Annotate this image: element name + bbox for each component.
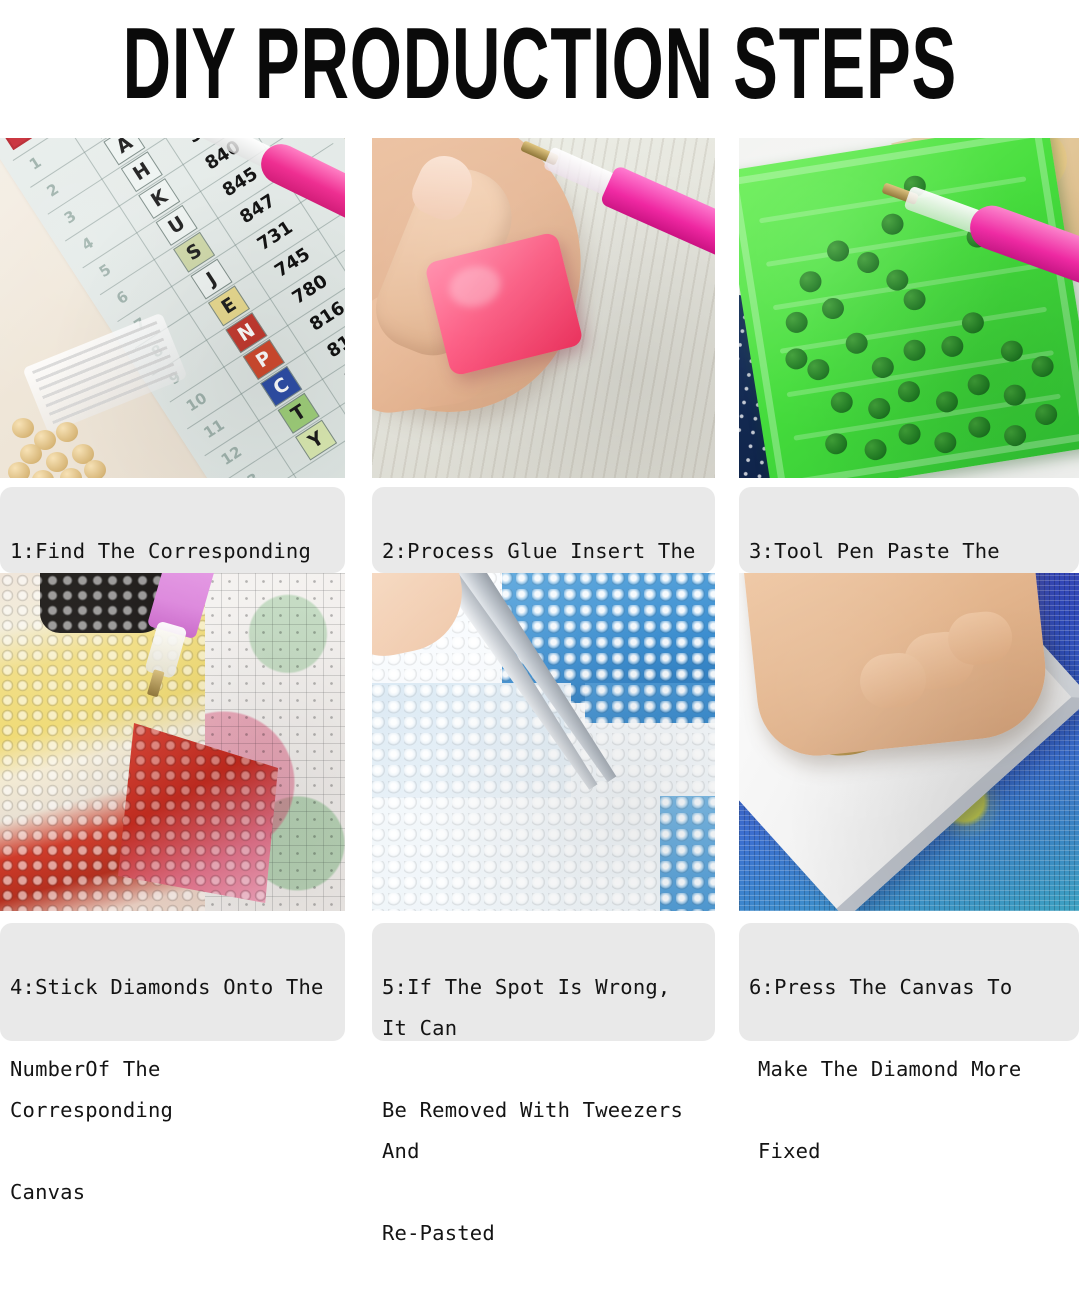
caption-line: 1:Find The Corresponding <box>10 531 335 572</box>
step-1-caption: 1:Find The Corresponding Sign <box>0 487 345 573</box>
steps-caption-row-1: 1:Find The Corresponding Sign 2:Process … <box>0 487 1079 573</box>
caption-line: Make The Diamond More <box>749 1049 1069 1090</box>
pen-tip <box>147 669 165 697</box>
pen-clear-section <box>144 621 187 679</box>
caption-line: 3:Tool Pen Paste The <box>749 531 1069 572</box>
page-title-bar: DIY PRODUCTION STEPS <box>0 0 1079 128</box>
step-3-caption: 3:Tool Pen Paste The Diamond <box>739 487 1079 573</box>
step-3-image <box>739 138 1079 478</box>
step-2-caption: 2:Process Glue Insert The Tool Pen <box>372 487 715 573</box>
steps-caption-row-2: 4:Stick Diamonds Onto The NumberOf The C… <box>0 923 1079 1041</box>
chart-row-index: 2 <box>43 180 62 201</box>
chart-red-label <box>0 138 116 150</box>
chart-row-index: 10 <box>183 389 210 415</box>
step-2-image <box>372 138 715 478</box>
caption-line: 4:Stick Diamonds Onto The <box>10 967 335 1008</box>
steps-grid: 1 2 3 4 5 6 7 8 9 10 11 12 13 14 <box>0 138 1079 1041</box>
page-title: DIY PRODUCTION STEPS <box>122 13 956 114</box>
step-5-image <box>372 573 715 911</box>
step-6-image <box>739 573 1079 911</box>
step-3-photo <box>739 138 1079 478</box>
chart-dmc-number: 745 <box>271 244 314 282</box>
steps-image-row-2 <box>0 573 1079 911</box>
caption-line: Canvas <box>10 1172 335 1213</box>
caption-line: Fixed <box>749 1131 1069 1172</box>
chart-row-index: 12 <box>218 443 245 469</box>
chart-row-index: 5 <box>96 260 115 281</box>
step-1-image: 1 2 3 4 5 6 7 8 9 10 11 12 13 14 <box>0 138 345 478</box>
caption-line: Be Removed With Tweezers And <box>382 1090 705 1172</box>
chart-dmc-number: 731 <box>254 217 297 255</box>
loose-drills <box>6 358 156 478</box>
chart-dmc-number: 817 <box>323 324 345 362</box>
chart-row-index: 4 <box>78 233 97 254</box>
step-5-caption: 5:If The Spot Is Wrong, It Can Be Remove… <box>372 923 715 1041</box>
steps-image-row-1: 1 2 3 4 5 6 7 8 9 10 11 12 13 14 <box>0 138 1079 478</box>
step-4-image <box>0 573 345 911</box>
chart-dmc-number: 780 <box>289 271 332 309</box>
step-2-photo <box>372 138 715 478</box>
caption-line: 6:Press The Canvas To <box>749 967 1069 1008</box>
step-4-caption: 4:Stick Diamonds Onto The NumberOf The C… <box>0 923 345 1041</box>
chart-row-index: 6 <box>113 287 132 308</box>
step-5-photo <box>372 573 715 911</box>
chart-dmc-number: 847 <box>236 190 279 228</box>
chart-row-index: 3 <box>61 207 80 228</box>
caption-line: NumberOf The Corresponding <box>10 1049 335 1131</box>
caption-line: 2:Process Glue Insert The <box>382 531 705 572</box>
step-6-caption: 6:Press The Canvas To Make The Diamond M… <box>739 923 1079 1041</box>
chart-row-index: 1 <box>26 153 45 174</box>
chart-row-index: 11 <box>200 416 227 442</box>
step-6-photo <box>739 573 1079 911</box>
step-4-photo <box>0 573 345 911</box>
caption-line: 5:If The Spot Is Wrong, It Can <box>382 967 705 1049</box>
step-1-photo: 1 2 3 4 5 6 7 8 9 10 11 12 13 14 <box>0 138 345 478</box>
caption-line: Re-Pasted <box>382 1213 705 1254</box>
diy-production-steps-page: DIY PRODUCTION STEPS <box>0 0 1079 1041</box>
